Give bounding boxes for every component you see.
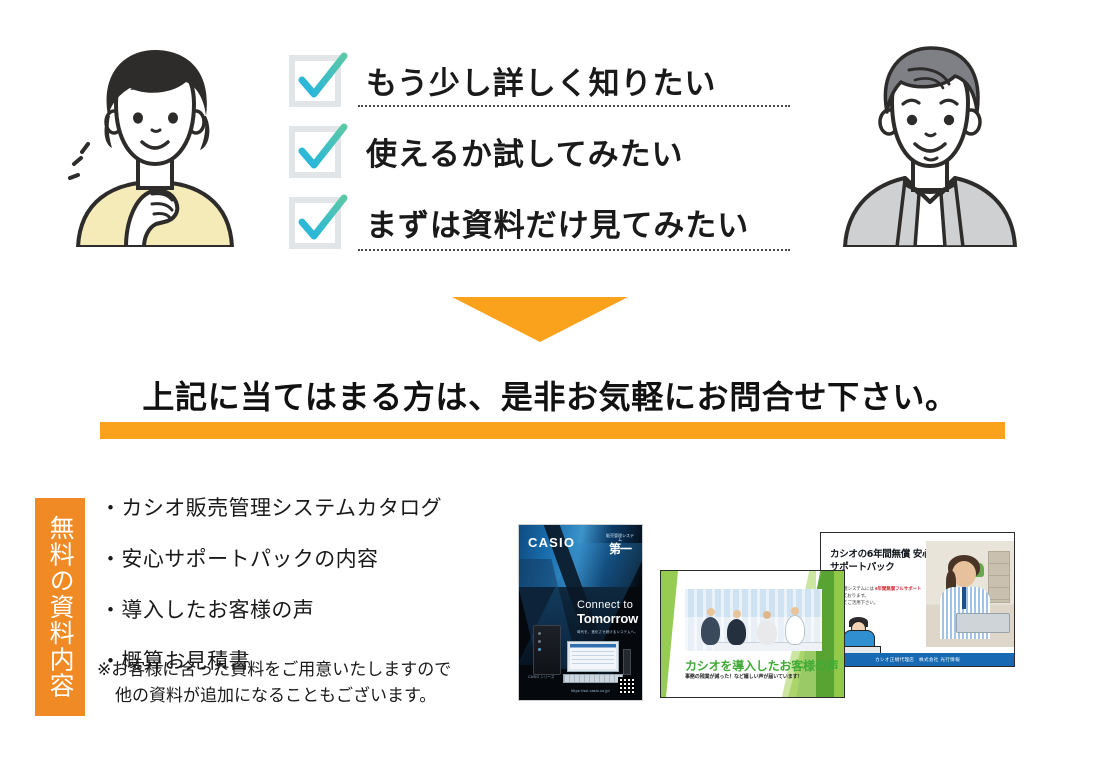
catalog-badge-small: 販売管理システム (606, 533, 634, 542)
qr-code-icon (618, 677, 635, 694)
support-photo-shelf (988, 551, 1010, 603)
catalog-monitor-screen (570, 644, 616, 669)
list-item: ・導入したお客様の声 (100, 600, 500, 621)
catalog-monitor-illustration (567, 641, 619, 672)
catalog-tagline: Connect to Tomorrow 時代を、進化させ続けるシステムへ。 (577, 599, 641, 634)
voices-left-wedge (660, 571, 687, 697)
brochure-customer-voices-thumbnail[interactable]: カシオを導入したお客様の声 事務の残業が減った！など嬉しい声が届いています！ (660, 570, 845, 698)
landing-section: もう少し詳しく知りたい 使えるか試してみたい (0, 0, 1100, 758)
support-footer: カシオ正規代理店 株式会社 光行情報 (821, 653, 1014, 666)
checklist-item-label: 使えるか試してみたい (366, 129, 683, 174)
catalog-tagline-line1: Connect to (577, 599, 641, 611)
voices-person (785, 615, 805, 645)
list-item: ・安心サポートパックの内容 (100, 549, 500, 570)
catalog-badge: 販売管理システム 第一 (605, 534, 635, 556)
woman-thinking-illustration (60, 42, 250, 247)
checklist-item-2[interactable]: まずは資料だけ見てみたい (288, 186, 788, 258)
checklist-item-1[interactable]: 使えるか試してみたい (288, 116, 788, 186)
catalog-tagline-line3: 時代を、進化させ続けるシステムへ。 (577, 629, 641, 634)
support-photo-laptop (956, 613, 1010, 633)
catalog-footer-text: CASIO シリーズ (528, 675, 554, 680)
man-smiling-illustration (835, 42, 1025, 247)
voices-person (727, 619, 746, 645)
voices-title: カシオを導入したお客様の声 (685, 657, 838, 674)
checkbox-checked-icon[interactable] (288, 196, 344, 248)
orange-divider-bar (100, 422, 1005, 439)
materials-note-line2: 他の資料が追加になることもございます。 (97, 683, 517, 709)
arrow-down-triangle-icon (452, 297, 628, 342)
support-photo-lanyard (962, 587, 966, 609)
voices-subtitle: 事務の残業が減った！など嬉しい声が届いています！ (685, 673, 802, 680)
casio-logo: CASIO (528, 535, 575, 550)
catalog-url: https://ssl.casio.co.jp/ (571, 689, 610, 693)
support-body-red: 6年間無償フルサポート (875, 586, 921, 591)
voices-person (757, 620, 777, 645)
catalog-badge-big: 第一 (605, 543, 635, 556)
catalog-tagline-line2: Tomorrow (577, 611, 641, 626)
brochure-catalog-thumbnail[interactable]: CASIO 販売管理システム 第一 Connect to Tomorrow 時代… (518, 524, 643, 701)
support-office-photo (926, 541, 1014, 647)
page-headline: 上記に当てはまる方は、是非お気軽にお問合せ下さい。 (0, 372, 1100, 418)
checklist-item-label: まずは資料だけ見てみたい (366, 200, 749, 245)
checklist: もう少し詳しく知りたい 使えるか試してみたい (288, 44, 788, 258)
checklist-item-0[interactable]: もう少し詳しく知りたい (288, 44, 788, 116)
support-title: カシオの6年間無償 安心サポートパック (830, 549, 935, 575)
catalog-pc-illustration (533, 625, 561, 675)
brochure-support-pack-thumbnail[interactable]: カシオの6年間無償 安心サポートパック 販売管理システムには 6年間無償フルサポ… (820, 532, 1015, 667)
list-item: ・カシオ販売管理システムカタログ (100, 498, 500, 519)
catalog-tower-illustration (623, 649, 631, 675)
checkbox-checked-icon[interactable] (288, 54, 344, 106)
checklist-item-label: もう少し詳しく知りたい (366, 58, 716, 103)
materials-note-line1: ※お客様に合った資料をご用意いたしますので (97, 660, 451, 680)
catalog-keyboard-illustration (563, 674, 623, 683)
voices-person (701, 617, 720, 645)
materials-note: ※お客様に合った資料をご用意いたしますので 他の資料が追加になることもございます… (97, 657, 517, 710)
separator-dotted (358, 105, 790, 107)
checkbox-checked-icon[interactable] (288, 125, 344, 177)
free-materials-label: 無料の資料内容 (35, 498, 85, 716)
voices-meeting-photo (685, 589, 822, 651)
free-materials-label-text: 無料の資料内容 (47, 515, 73, 699)
